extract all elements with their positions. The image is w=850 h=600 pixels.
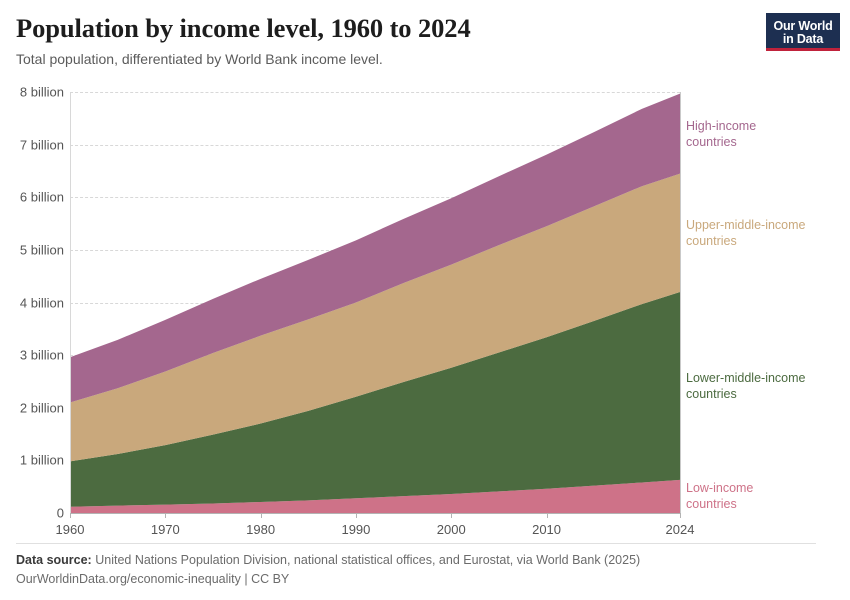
series-label-0[interactable]: Low-incomecountries — [686, 480, 753, 512]
page-title: Population by income level, 1960 to 2024 — [16, 14, 756, 44]
x-tick-label: 1960 — [56, 522, 85, 537]
x-tick-mark — [261, 513, 262, 518]
series-label-line-1: Upper-middle-income — [686, 217, 806, 233]
y-tick-label: 1 billion — [20, 453, 64, 468]
y-axis-line — [70, 92, 71, 514]
x-tick-mark — [70, 513, 71, 518]
chart-header: Population by income level, 1960 to 2024… — [16, 14, 756, 67]
series-label-line-2: countries — [686, 134, 756, 150]
y-tick-label: 3 billion — [20, 348, 64, 363]
series-label-1[interactable]: Lower-middle-incomecountries — [686, 370, 806, 402]
plot-area — [70, 92, 680, 513]
chart-footer: Data source: United Nations Population D… — [16, 543, 816, 586]
data-source-line: Data source: United Nations Population D… — [16, 553, 816, 567]
x-tick-label: 1990 — [341, 522, 370, 537]
y-tick-label: 0 — [57, 506, 64, 521]
series-label-3[interactable]: High-incomecountries — [686, 118, 756, 150]
y-tick-label: 2 billion — [20, 400, 64, 415]
y-tick-label: 7 billion — [20, 137, 64, 152]
series-label-line-2: countries — [686, 233, 806, 249]
series-label-2[interactable]: Upper-middle-incomecountries — [686, 217, 806, 249]
series-label-line-2: countries — [686, 496, 753, 512]
owid-logo[interactable]: Our World in Data — [766, 13, 840, 51]
x-tick-mark — [356, 513, 357, 518]
x-tick-label: 2010 — [532, 522, 561, 537]
plot-right-edge — [680, 92, 681, 514]
y-axis: 01 billion2 billion3 billion4 billion5 b… — [0, 92, 64, 513]
x-tick-label: 1970 — [151, 522, 180, 537]
logo-line-2: in Data — [783, 33, 823, 46]
x-tick-mark — [451, 513, 452, 518]
series-label-line-2: countries — [686, 386, 806, 402]
license-line[interactable]: OurWorldinData.org/economic-inequality |… — [16, 572, 816, 586]
y-tick-label: 4 billion — [20, 295, 64, 310]
x-axis: 1960197019801990200020102024 — [70, 513, 680, 539]
page-subtitle: Total population, differentiated by Worl… — [16, 51, 756, 67]
y-tick-label: 5 billion — [20, 242, 64, 257]
series-label-line-1: High-income — [686, 118, 756, 134]
x-tick-mark — [547, 513, 548, 518]
data-source-label: Data source: — [16, 553, 92, 567]
y-tick-label: 8 billion — [20, 85, 64, 100]
chart-page: Population by income level, 1960 to 2024… — [0, 0, 850, 600]
data-source-text: United Nations Population Division, nati… — [95, 553, 640, 567]
x-tick-mark — [165, 513, 166, 518]
series-label-line-1: Low-income — [686, 480, 753, 496]
x-tick-label: 1980 — [246, 522, 275, 537]
y-tick-label: 6 billion — [20, 190, 64, 205]
series-label-line-1: Lower-middle-income — [686, 370, 806, 386]
stacked-area-series — [70, 92, 680, 513]
x-tick-label: 2024 — [666, 522, 695, 537]
logo-red-bar — [766, 48, 840, 52]
x-tick-label: 2000 — [437, 522, 466, 537]
x-tick-mark — [680, 513, 681, 518]
